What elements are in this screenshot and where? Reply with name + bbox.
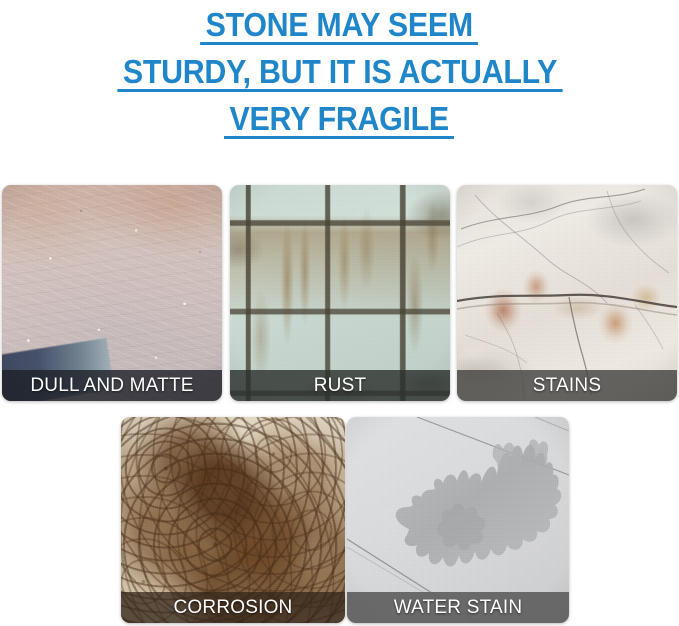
- tile-grime-shading: [230, 185, 450, 401]
- headline-line-1: STONE MAY SEEM: [206, 6, 473, 44]
- tile-rust[interactable]: RUST: [230, 185, 450, 401]
- photo-rust: [230, 185, 450, 401]
- headline-line-3: VERY FRAGILE: [230, 100, 449, 138]
- marble-vein-lines: [457, 185, 677, 401]
- tile-caption-rust: RUST: [230, 370, 450, 401]
- tile-caption-dull-and-matte: DULL AND MATTE: [2, 370, 222, 401]
- tile-water-stain[interactable]: WATER STAIN: [347, 417, 569, 623]
- tile-corrosion[interactable]: CORROSION: [121, 417, 345, 623]
- tile-caption-water-stain: WATER STAIN: [347, 592, 569, 623]
- photo-dull-and-matte: [2, 185, 222, 401]
- tile-dull-and-matte[interactable]: DULL AND MATTE: [2, 185, 222, 401]
- tile-stains[interactable]: STAINS: [457, 185, 677, 401]
- headline-spacer-1: [0, 44, 679, 53]
- tile-caption-stains: STAINS: [457, 370, 677, 401]
- headline-spacer-2: [0, 91, 679, 100]
- photo-stains: [457, 185, 677, 401]
- tile-caption-corrosion: CORROSION: [121, 592, 345, 623]
- headline-block: STONE MAY SEEM STURDY, BUT IT IS ACTUALL…: [0, 0, 679, 138]
- headline-line-2: STURDY, BUT IT IS ACTUALLY: [122, 53, 556, 91]
